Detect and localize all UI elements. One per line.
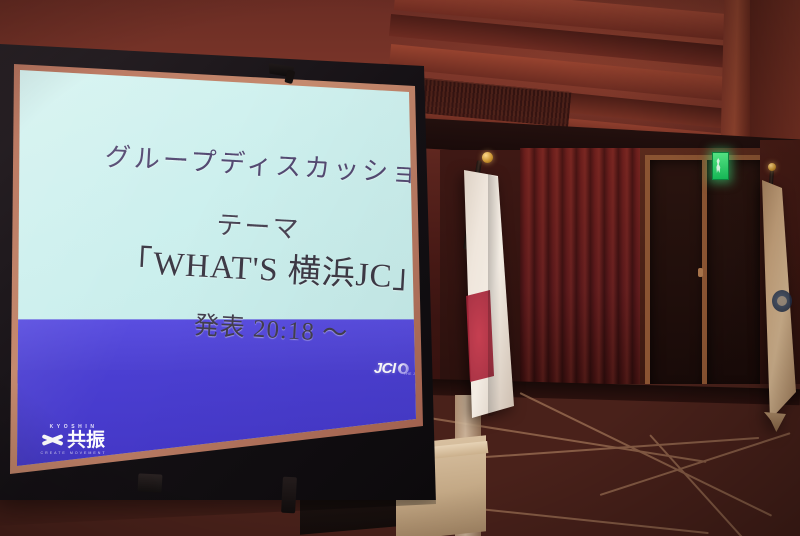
running-person-icon xyxy=(716,158,721,173)
slide-title: グループディスカッション xyxy=(104,136,444,192)
camera-clamp-arm xyxy=(284,69,295,84)
japan-flag xyxy=(458,170,518,418)
jci-emblem-icon xyxy=(772,290,792,312)
kyoshin-romaji: KYOSHIN xyxy=(50,424,98,430)
jci-flag-finial-icon xyxy=(768,163,776,171)
clip-on-camera xyxy=(267,63,302,85)
kyoshin-logo: KYOSHIN 共振 CREATE MOVEMENT xyxy=(22,419,126,459)
japan-flag-fold xyxy=(488,174,500,416)
display-foot-left xyxy=(138,473,163,492)
wall-pilaster-secondary xyxy=(750,0,800,150)
jci-flag xyxy=(752,180,800,420)
door-handle[interactable] xyxy=(698,268,703,277)
display-stand-leg xyxy=(281,477,297,514)
x-mark-icon xyxy=(42,432,64,448)
jci-logo: JCI THE JUNIOR CHAMBER INTERNATIONAL xyxy=(374,360,409,377)
red-curtain xyxy=(520,148,650,388)
photo-scene: グループディスカッション テーマ 「WHAT'S 横浜JC」 発表 20:18 … xyxy=(0,0,800,536)
kyoshin-kanji: 共振 xyxy=(67,431,105,450)
japan-flag-finial-icon xyxy=(482,152,493,163)
kyoshin-mark-row: 共振 xyxy=(42,431,105,450)
display-assembly[interactable]: グループディスカッション テーマ 「WHAT'S 横浜JC」 発表 20:18 … xyxy=(0,22,462,522)
emergency-exit-sign xyxy=(712,152,729,180)
slide-theme-value: 「WHAT'S 横浜JC」 xyxy=(118,234,428,299)
jci-wordmark: JCI xyxy=(374,360,396,377)
kyoshin-subtitle: CREATE MOVEMENT xyxy=(41,451,107,455)
